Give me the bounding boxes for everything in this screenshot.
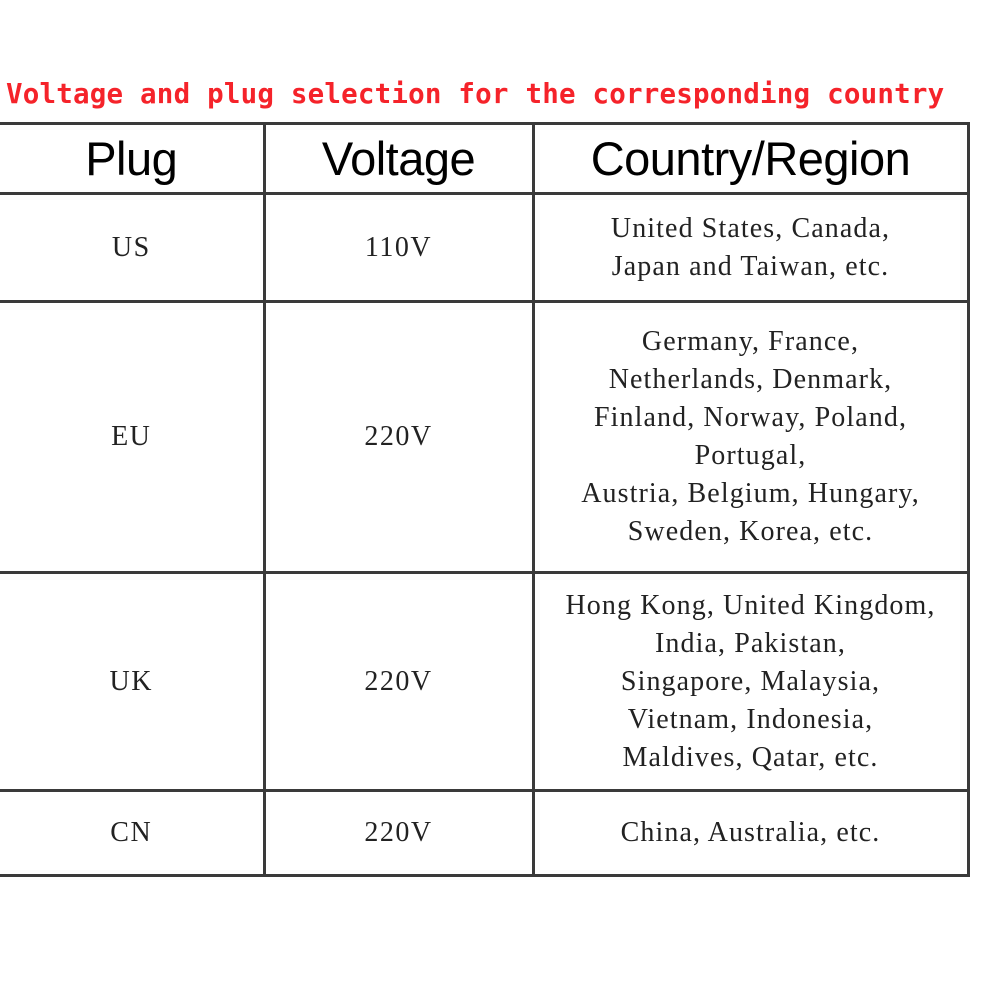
cell-voltage: 220V (264, 573, 533, 791)
table-row: CN 220V China, Australia, etc. (0, 791, 968, 876)
cell-plug: EU (0, 302, 264, 573)
country-line: Austria, Belgium, Hungary, (539, 475, 963, 513)
country-line: United States, Canada, (539, 210, 963, 248)
country-line: India, Pakistan, (539, 625, 963, 663)
country-line: Germany, France, (539, 323, 963, 361)
country-line: Sweden, Korea, etc. (539, 513, 963, 551)
voltage-plug-table: Plug Voltage Country/Region US 110V Unit… (0, 122, 970, 877)
country-line: Portugal, (539, 437, 963, 475)
cell-country-region: United States, Canada, Japan and Taiwan,… (533, 194, 968, 302)
country-line: Singapore, Malaysia, (539, 663, 963, 701)
table-header-row: Plug Voltage Country/Region (0, 124, 968, 194)
table-header: Plug Voltage Country/Region (0, 124, 968, 194)
cell-plug: UK (0, 573, 264, 791)
column-header-plug: Plug (0, 124, 264, 194)
table-body: US 110V United States, Canada, Japan and… (0, 194, 968, 876)
column-header-country-region: Country/Region (533, 124, 968, 194)
table-row: UK 220V Hong Kong, United Kingdom, India… (0, 573, 968, 791)
country-line: Maldives, Qatar, etc. (539, 739, 963, 777)
table-row: EU 220V Germany, France, Netherlands, De… (0, 302, 968, 573)
table-row: US 110V United States, Canada, Japan and… (0, 194, 968, 302)
voltage-plug-table-wrapper: Plug Voltage Country/Region US 110V Unit… (0, 122, 968, 877)
country-line: Finland, Norway, Poland, (539, 399, 963, 437)
cell-voltage: 220V (264, 302, 533, 573)
cell-plug: CN (0, 791, 264, 876)
page-title: Voltage and plug selection for the corre… (6, 72, 966, 116)
cell-country-region: Germany, France, Netherlands, Denmark, F… (533, 302, 968, 573)
cell-voltage: 220V (264, 791, 533, 876)
cell-voltage: 110V (264, 194, 533, 302)
country-line: Hong Kong, United Kingdom, (539, 587, 963, 625)
page-root: Voltage and plug selection for the corre… (0, 0, 1000, 1000)
column-header-voltage: Voltage (264, 124, 533, 194)
country-line: Vietnam, Indonesia, (539, 701, 963, 739)
country-line: Japan and Taiwan, etc. (539, 248, 963, 286)
country-line: Netherlands, Denmark, (539, 361, 963, 399)
cell-country-region: China, Australia, etc. (533, 791, 968, 876)
country-line: China, Australia, etc. (539, 814, 963, 852)
cell-plug: US (0, 194, 264, 302)
cell-country-region: Hong Kong, United Kingdom, India, Pakist… (533, 573, 968, 791)
